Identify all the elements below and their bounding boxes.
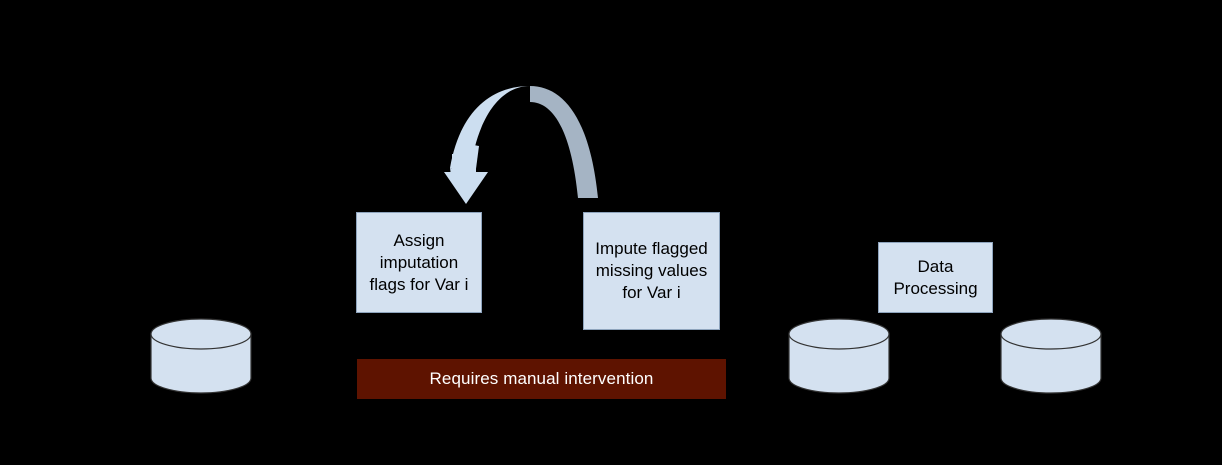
curved-loop-arrow-icon — [430, 80, 630, 210]
database-cylinder-middle[interactable] — [788, 318, 890, 394]
process-box-data-processing-label: Data Processing — [885, 256, 986, 300]
manual-intervention-banner-label: Requires manual intervention — [430, 369, 654, 389]
diagram-canvas: Assign imputation flags for Var i Impute… — [0, 0, 1222, 465]
process-box-assign-imputation-flags-label: Assign imputation flags for Var i — [363, 230, 475, 296]
manual-intervention-banner: Requires manual intervention — [357, 359, 726, 399]
database-cylinder-icon — [150, 318, 252, 394]
database-cylinder-left[interactable] — [150, 318, 252, 394]
process-box-assign-imputation-flags[interactable]: Assign imputation flags for Var i — [356, 212, 482, 313]
database-cylinder-icon — [788, 318, 890, 394]
database-cylinder-right[interactable] — [1000, 318, 1102, 394]
database-cylinder-icon — [1000, 318, 1102, 394]
curved-loop-arrow — [430, 80, 630, 210]
process-box-impute-flagged-missing-values-label: Impute flagged missing values for Var i — [590, 238, 713, 304]
process-box-data-processing[interactable]: Data Processing — [878, 242, 993, 313]
process-box-impute-flagged-missing-values[interactable]: Impute flagged missing values for Var i — [583, 212, 720, 330]
